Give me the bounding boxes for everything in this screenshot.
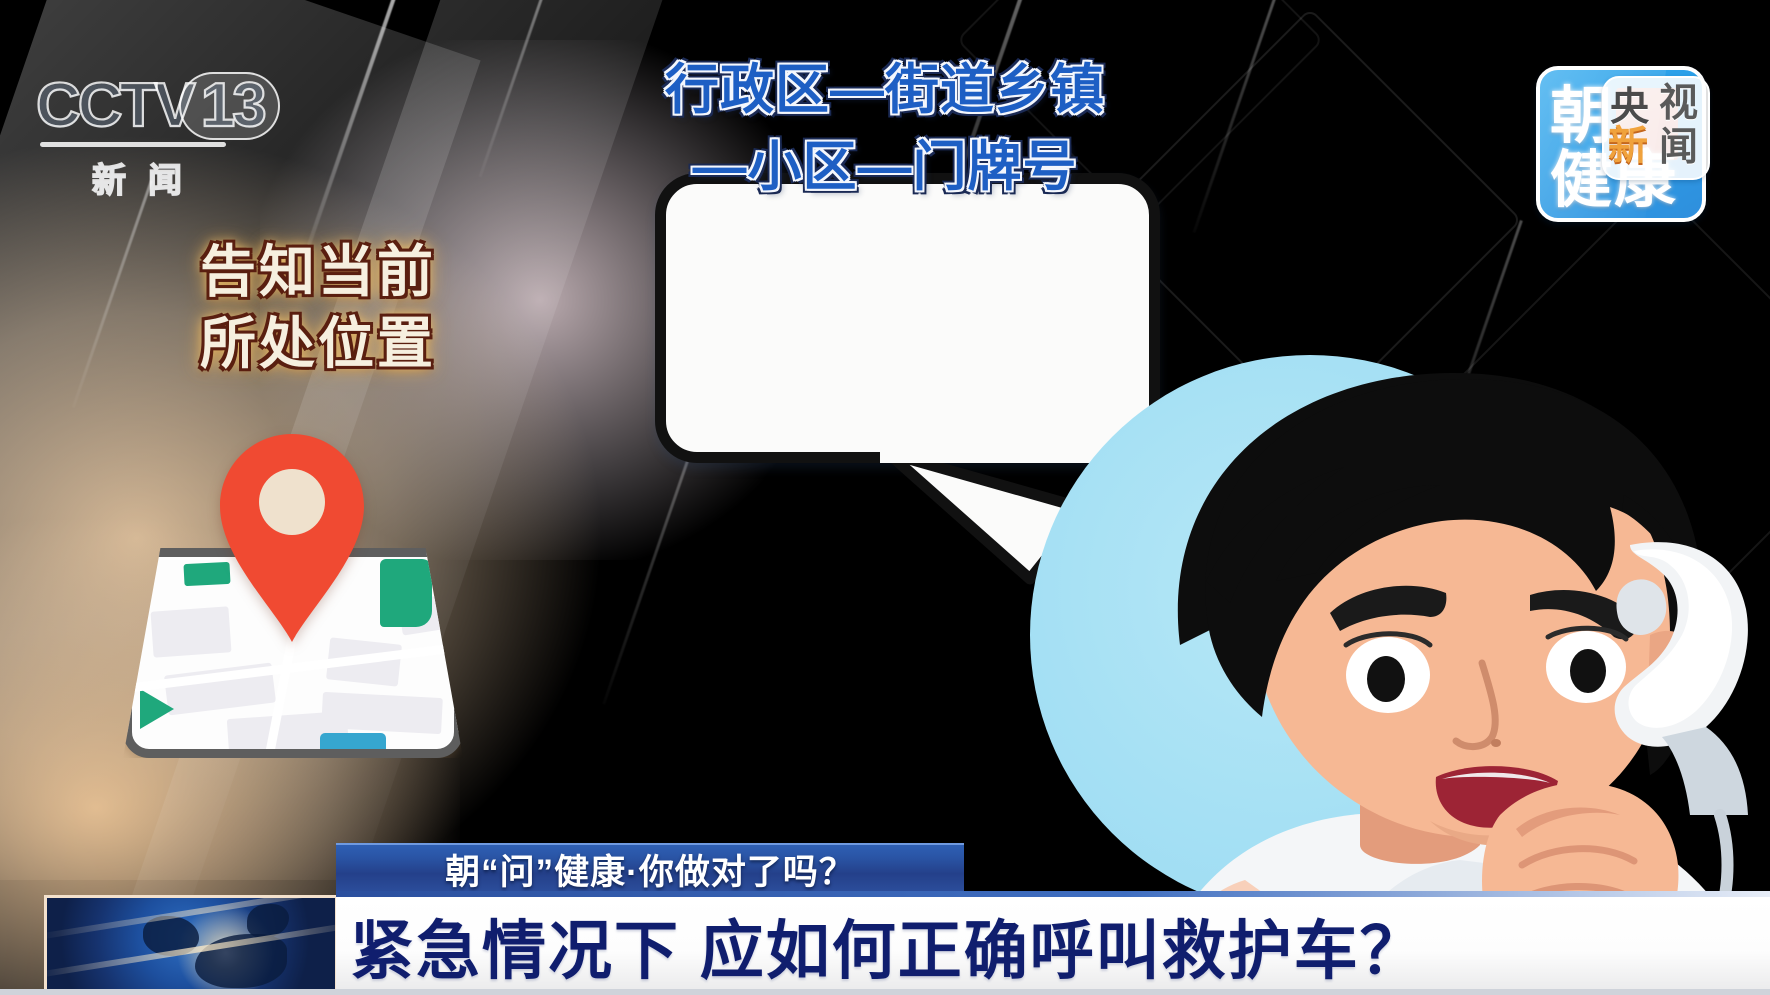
news-headline-text: 紧急情况下 应如何正确呼叫救护车？	[350, 900, 1426, 992]
map-park	[380, 559, 432, 627]
speech-bubble-line2: —小区—门牌号	[0, 129, 1770, 206]
left-callout-line1: 告知当前	[168, 236, 468, 308]
speech-bubble-text: 行政区—街道乡镇 —小区—门牌号	[0, 52, 1770, 205]
program-sub-banner-text: 朝“问”健康·你做对了吗？	[445, 844, 855, 895]
map-pin-icon	[216, 430, 368, 646]
left-callout-title: 告知当前 所处位置	[168, 236, 468, 379]
bottom-rule	[0, 989, 1770, 995]
map-water	[320, 733, 386, 758]
left-callout-line2: 所处位置	[168, 308, 468, 380]
news-headline-bar: 紧急情况下 应如何正确呼叫救护车？	[336, 897, 1770, 995]
broadcast-frame: CCTV13 新闻 朝 健 康 央 视 新 闻 告知当前 所处位置	[0, 0, 1770, 995]
location-map-illustration	[118, 430, 488, 760]
speech-bubble-line1: 行政区—街道乡镇	[0, 52, 1770, 129]
program-sub-banner: 朝“问”健康·你做对了吗？	[336, 843, 964, 893]
map-block	[321, 692, 443, 734]
globe-thumbnail	[44, 895, 338, 995]
